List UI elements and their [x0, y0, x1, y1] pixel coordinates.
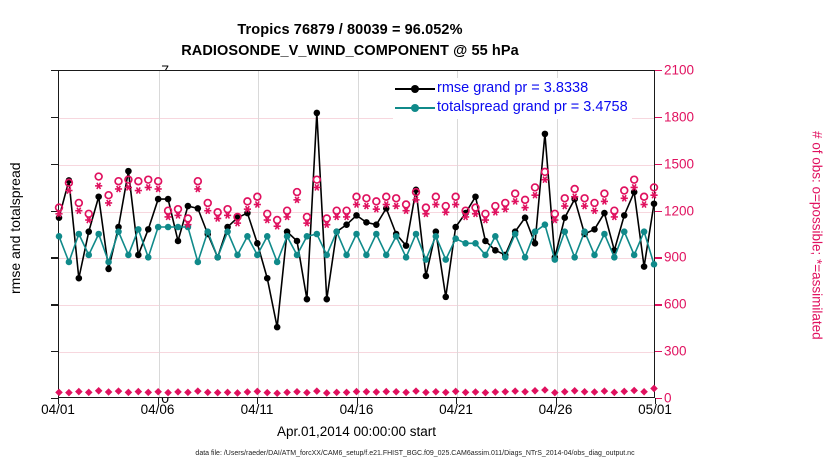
- obs-possible-marker: [432, 193, 439, 200]
- obs-baseline-marker: [164, 389, 172, 397]
- obs-assimilated-marker: [601, 198, 608, 204]
- data-point: [244, 233, 251, 240]
- data-point: [294, 252, 301, 259]
- tickmark-x: [556, 398, 557, 404]
- obs-baseline-marker: [293, 388, 301, 396]
- obs-assimilated-marker: [452, 201, 459, 207]
- data-point: [542, 221, 549, 228]
- obs-possible-marker: [561, 195, 568, 202]
- obs-assimilated-marker: [591, 208, 598, 214]
- obs-possible-marker: [641, 193, 648, 200]
- legend-item-rmse[interactable]: rmse grand pr = 3.8338: [395, 79, 628, 98]
- obs-possible-marker: [492, 203, 499, 210]
- data-point: [195, 205, 202, 212]
- y-axis-right-label: # of obs: o=possible; *=assimilated: [806, 110, 828, 360]
- obs-assimilated-marker: [95, 183, 102, 189]
- data-point: [175, 238, 182, 245]
- data-point: [353, 231, 360, 238]
- obs-baseline-marker: [611, 389, 619, 397]
- obs-baseline-marker: [432, 388, 440, 396]
- data-point: [294, 238, 301, 245]
- obs-baseline-marker: [640, 388, 648, 396]
- tickmark-right: [655, 117, 662, 118]
- obs-baseline-marker: [601, 387, 609, 395]
- data-point: [214, 254, 221, 261]
- obs-baseline-marker: [174, 388, 182, 396]
- data-point: [284, 233, 291, 240]
- data-point: [125, 168, 132, 175]
- obs-baseline-marker: [363, 388, 371, 396]
- data-point: [433, 233, 440, 240]
- obs-assimilated-marker: [432, 201, 439, 207]
- data-point: [542, 131, 549, 138]
- obs-possible-marker: [581, 195, 588, 202]
- obs-possible-marker: [363, 195, 370, 202]
- obs-possible-marker: [105, 192, 112, 199]
- obs-baseline-marker: [482, 389, 490, 397]
- tickmark-right: [655, 164, 662, 165]
- data-point: [165, 224, 172, 231]
- data-point: [423, 256, 430, 263]
- obs-baseline-marker: [551, 389, 559, 397]
- obs-baseline-marker: [254, 388, 262, 396]
- obs-assimilated-marker: [521, 205, 528, 211]
- data-point: [393, 233, 400, 240]
- obs-baseline-marker: [521, 388, 529, 396]
- data-point: [76, 231, 83, 238]
- data-file-footer: data file: /Users/raeder/DAI/ATM_forcXX/…: [0, 450, 830, 457]
- data-point: [651, 261, 658, 268]
- obs-baseline-marker: [422, 389, 430, 397]
- tickmark-right: [655, 304, 662, 305]
- obs-possible-marker: [621, 187, 628, 194]
- data-point: [254, 240, 261, 247]
- data-point: [641, 263, 648, 270]
- data-point: [472, 240, 479, 247]
- data-point: [561, 214, 568, 221]
- obs-assimilated-marker: [393, 203, 400, 209]
- legend-swatch-rmse: [395, 83, 435, 95]
- y-axis-left-label: rmse and totalspread: [4, 108, 26, 348]
- tickmark-left: [51, 117, 58, 118]
- data-point: [581, 228, 588, 235]
- obs-possible-marker: [611, 207, 618, 214]
- obs-assimilated-marker: [531, 192, 538, 198]
- data-point: [492, 247, 499, 254]
- obs-baseline-marker: [303, 389, 311, 397]
- tickmark-left: [51, 351, 58, 352]
- data-point: [333, 228, 340, 235]
- data-point: [373, 221, 380, 228]
- data-point: [145, 254, 152, 261]
- obs-possible-marker: [323, 215, 330, 222]
- obs-assimilated-marker: [254, 201, 261, 207]
- obs-assimilated-marker: [581, 203, 588, 209]
- x-tick-04-16: 04/16: [340, 402, 374, 417]
- obs-possible-marker: [204, 200, 211, 207]
- obs-possible-marker: [75, 200, 82, 207]
- legend-swatch-totalspread: [395, 102, 435, 114]
- data-point: [165, 196, 172, 203]
- obs-baseline-marker: [55, 389, 63, 397]
- data-point: [373, 231, 380, 238]
- data-point: [631, 189, 638, 196]
- obs-possible-marker: [333, 207, 340, 214]
- data-point: [363, 219, 370, 226]
- y-tick-right-300: 300: [664, 344, 710, 359]
- data-point: [304, 233, 311, 240]
- tickmark-left: [51, 257, 58, 258]
- data-point: [522, 214, 529, 221]
- obs-possible-marker: [601, 190, 608, 197]
- data-point: [532, 240, 539, 247]
- data-point: [522, 254, 529, 261]
- y-tick-right-1800: 1800: [664, 109, 710, 124]
- obs-baseline-marker: [244, 388, 252, 396]
- obs-possible-marker: [571, 186, 578, 193]
- data-point: [135, 252, 142, 259]
- obs-assimilated-marker: [353, 201, 360, 207]
- obs-possible-marker: [313, 176, 320, 183]
- obs-baseline-marker: [144, 389, 152, 397]
- data-point: [442, 256, 449, 263]
- obs-baseline-marker: [263, 389, 271, 397]
- tickmark-x: [58, 398, 59, 404]
- data-point: [85, 228, 92, 235]
- obs-assimilated-marker: [373, 206, 380, 212]
- data-point: [76, 275, 83, 282]
- data-point: [621, 228, 628, 235]
- y-tick-right-900: 900: [664, 250, 710, 265]
- obs-assimilated-marker: [363, 203, 370, 209]
- data-point: [323, 296, 330, 303]
- data-point: [413, 231, 420, 238]
- x-tick-04-06: 04/06: [141, 402, 175, 417]
- obs-baseline-marker: [115, 387, 123, 395]
- obs-baseline-marker: [85, 389, 93, 397]
- obs-assimilated-marker: [640, 201, 647, 207]
- obs-assimilated-marker: [75, 208, 82, 214]
- obs-baseline-marker: [452, 388, 460, 396]
- data-point: [343, 252, 350, 259]
- data-point: [462, 240, 469, 247]
- tickmark-x: [158, 398, 159, 404]
- data-point: [621, 212, 628, 219]
- data-point: [482, 238, 489, 245]
- obs-baseline-marker: [462, 389, 470, 397]
- tickmark-x: [456, 398, 457, 404]
- obs-possible-marker: [244, 198, 251, 205]
- obs-possible-marker: [274, 217, 281, 224]
- legend-item-totalspread[interactable]: totalspread grand pr = 3.4758: [395, 98, 628, 117]
- obs-baseline-marker: [412, 387, 420, 395]
- obs-possible-marker: [254, 193, 261, 200]
- obs-baseline-marker: [501, 388, 509, 396]
- legend-label-totalspread: totalspread grand pr = 3.4758: [437, 98, 628, 117]
- data-point: [274, 259, 281, 266]
- data-point: [343, 221, 350, 228]
- obs-baseline-marker: [95, 387, 103, 395]
- data-point: [66, 259, 73, 266]
- obs-baseline-marker: [591, 388, 599, 396]
- obs-possible-marker: [482, 210, 489, 217]
- x-tick-05-01: 05/01: [638, 402, 672, 417]
- data-point: [403, 254, 410, 261]
- obs-assimilated-marker: [115, 186, 122, 192]
- data-point: [185, 203, 192, 210]
- obs-possible-marker: [522, 196, 529, 203]
- obs-possible-marker: [423, 204, 430, 211]
- obs-possible-marker: [373, 198, 380, 205]
- data-point: [492, 233, 499, 240]
- obs-possible-marker: [145, 176, 152, 183]
- obs-assimilated-marker: [155, 186, 162, 192]
- data-point: [571, 254, 578, 261]
- data-point: [601, 231, 608, 238]
- data-point: [552, 256, 559, 263]
- obs-possible-marker: [115, 178, 122, 185]
- data-point: [135, 226, 142, 233]
- obs-possible-marker: [214, 209, 221, 216]
- obs-possible-marker: [185, 215, 192, 222]
- data-point: [452, 235, 459, 242]
- obs-possible-marker: [264, 210, 271, 217]
- data-point: [155, 196, 162, 203]
- obs-assimilated-marker: [621, 195, 628, 201]
- x-tick-04-11: 04/11: [241, 402, 274, 417]
- obs-assimilated-marker: [293, 197, 300, 203]
- obs-baseline-marker: [531, 387, 539, 395]
- obs-possible-marker: [304, 214, 311, 221]
- obs-baseline-marker: [511, 387, 519, 395]
- obs-baseline-marker: [650, 385, 658, 393]
- obs-baseline-marker: [283, 389, 291, 397]
- tickmark-x: [357, 398, 358, 404]
- obs-baseline-marker: [184, 389, 192, 397]
- y-tick-right-2100: 2100: [664, 63, 710, 78]
- obs-assimilated-marker: [650, 192, 657, 198]
- obs-assimilated-marker: [194, 186, 201, 192]
- obs-possible-marker: [294, 189, 301, 196]
- obs-possible-marker: [502, 200, 509, 207]
- tickmark-left: [51, 398, 58, 399]
- obs-possible-marker: [353, 193, 360, 200]
- obs-possible-marker: [224, 206, 231, 213]
- tickmark-right: [655, 351, 662, 352]
- obs-baseline-marker: [125, 389, 133, 397]
- obs-possible-marker: [155, 178, 162, 185]
- data-point: [254, 252, 261, 259]
- obs-baseline-marker: [204, 389, 212, 397]
- data-point: [274, 324, 281, 331]
- chart-title-line1: Tropics 76879 / 80039 = 96.052%: [0, 20, 700, 41]
- x-tick-04-21: 04/21: [439, 402, 473, 417]
- obs-baseline-marker: [214, 389, 222, 397]
- obs-assimilated-marker: [204, 208, 211, 214]
- data-point: [651, 200, 658, 207]
- obs-baseline-marker: [541, 386, 549, 394]
- obs-baseline-marker: [313, 387, 321, 395]
- obs-baseline-marker: [273, 389, 281, 397]
- obs-baseline-marker: [402, 389, 410, 397]
- obs-baseline-marker: [581, 388, 589, 396]
- series-canvas: [59, 71, 654, 397]
- data-point: [85, 252, 92, 259]
- data-point: [353, 212, 360, 219]
- obs-possible-marker: [85, 210, 92, 217]
- obs-possible-marker: [393, 195, 400, 202]
- obs-possible-marker: [403, 201, 410, 208]
- data-point: [641, 228, 648, 235]
- data-point: [195, 259, 202, 266]
- obs-baseline-marker: [392, 388, 400, 396]
- tickmark-right: [655, 211, 662, 212]
- data-point: [502, 254, 509, 261]
- obs-baseline-marker: [75, 388, 83, 396]
- chart-title-line2: RADIOSONDE_V_WIND_COMPONENT @ 55 hPa: [0, 41, 700, 62]
- tickmark-left: [51, 70, 58, 71]
- obs-possible-marker: [135, 178, 142, 185]
- data-point: [314, 110, 321, 117]
- data-point: [601, 210, 608, 217]
- data-point: [472, 193, 479, 200]
- obs-possible-marker: [551, 210, 558, 217]
- data-point: [442, 294, 449, 301]
- data-point: [115, 228, 122, 235]
- obs-baseline-marker: [105, 388, 113, 396]
- obs-possible-marker: [631, 176, 638, 183]
- data-point: [423, 273, 430, 280]
- obs-baseline-marker: [373, 388, 381, 396]
- obs-possible-marker: [651, 184, 658, 191]
- data-point: [323, 252, 330, 259]
- data-point: [383, 252, 390, 259]
- data-point: [561, 228, 568, 235]
- tickmark-right: [655, 70, 662, 71]
- data-point: [224, 228, 231, 235]
- obs-possible-marker: [343, 207, 350, 214]
- data-point: [204, 228, 211, 235]
- obs-possible-marker: [194, 178, 201, 185]
- obs-assimilated-marker: [541, 177, 548, 183]
- tickmark-right: [655, 257, 662, 258]
- obs-assimilated-marker: [313, 184, 320, 190]
- y-tick-right-600: 600: [664, 297, 710, 312]
- data-point: [105, 259, 112, 266]
- obs-baseline-marker: [620, 388, 628, 396]
- chart-root: Tropics 76879 / 80039 = 96.052% RADIOSON…: [0, 0, 830, 470]
- data-point: [304, 296, 311, 303]
- y-tick-right-1200: 1200: [664, 203, 710, 218]
- data-point: [363, 252, 370, 259]
- data-point: [95, 193, 102, 200]
- data-point: [264, 275, 271, 282]
- obs-baseline-marker: [382, 388, 390, 396]
- obs-baseline-marker: [343, 389, 351, 397]
- data-point: [591, 226, 598, 233]
- x-tick-04-01: 04/01: [41, 402, 75, 417]
- legend-label-rmse: rmse grand pr = 3.8338: [437, 79, 588, 98]
- obs-baseline-marker: [442, 389, 450, 397]
- obs-baseline-marker: [472, 388, 480, 396]
- obs-possible-marker: [591, 200, 598, 207]
- data-point: [125, 252, 132, 259]
- data-point: [56, 233, 63, 240]
- obs-baseline-marker: [135, 388, 143, 396]
- data-point: [314, 231, 321, 238]
- data-point: [452, 224, 459, 231]
- data-point: [155, 224, 162, 231]
- data-point: [105, 266, 112, 273]
- obs-baseline-marker: [571, 387, 579, 395]
- chart-title: Tropics 76879 / 80039 = 96.052% RADIOSON…: [0, 20, 700, 62]
- obs-baseline-marker: [194, 387, 202, 395]
- obs-baseline-marker: [333, 389, 341, 397]
- obs-possible-marker: [175, 206, 182, 213]
- data-point: [264, 233, 271, 240]
- obs-baseline-marker: [154, 388, 162, 396]
- obs-baseline-marker: [492, 388, 500, 396]
- obs-possible-marker: [442, 203, 449, 210]
- y-tick-right-1500: 1500: [664, 156, 710, 171]
- obs-baseline-marker: [65, 389, 73, 397]
- obs-possible-marker: [284, 207, 291, 214]
- obs-assimilated-marker: [145, 184, 152, 190]
- data-point: [482, 252, 489, 259]
- data-point: [591, 252, 598, 259]
- obs-assimilated-marker: [135, 187, 142, 193]
- chart-legend: rmse grand pr = 3.8338 totalspread grand…: [393, 78, 632, 119]
- x-tick-04-26: 04/26: [539, 402, 573, 417]
- data-point: [175, 224, 182, 231]
- obs-assimilated-marker: [561, 203, 568, 209]
- data-point: [403, 242, 410, 249]
- data-point: [611, 254, 618, 261]
- data-point: [532, 228, 539, 235]
- obs-possible-marker: [512, 190, 519, 197]
- obs-assimilated-marker: [105, 200, 112, 206]
- data-point: [95, 231, 102, 238]
- obs-baseline-marker: [353, 388, 361, 396]
- tickmark-x: [655, 398, 656, 404]
- tickmark-left: [51, 164, 58, 165]
- obs-baseline-marker: [234, 389, 242, 397]
- data-point: [145, 226, 152, 233]
- tickmark-left: [51, 304, 58, 305]
- data-point: [512, 231, 519, 238]
- obs-baseline-marker: [630, 387, 638, 395]
- tickmark-x: [257, 398, 258, 404]
- obs-possible-marker: [452, 193, 459, 200]
- obs-baseline-marker: [224, 389, 232, 397]
- data-point: [631, 252, 638, 259]
- obs-possible-marker: [383, 193, 390, 200]
- data-point: [234, 252, 241, 259]
- plot-area: [58, 70, 655, 398]
- obs-baseline-marker: [561, 388, 569, 396]
- obs-baseline-marker: [323, 389, 331, 397]
- obs-possible-marker: [95, 173, 102, 180]
- obs-assimilated-marker: [512, 198, 519, 204]
- obs-possible-marker: [532, 184, 539, 191]
- x-axis-label: Apr.01,2014 00:00:00 start: [58, 424, 655, 439]
